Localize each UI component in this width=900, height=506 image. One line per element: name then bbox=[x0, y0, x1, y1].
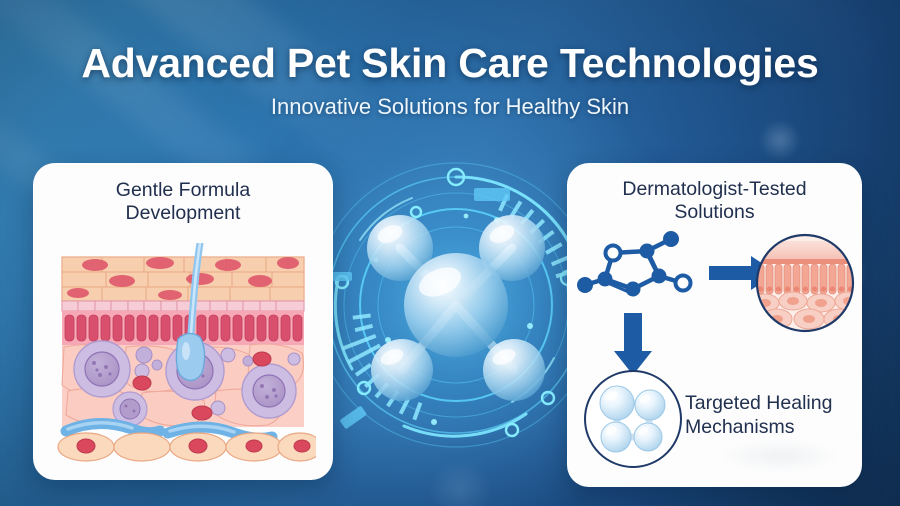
card-smudge bbox=[720, 439, 840, 473]
background-bokeh bbox=[760, 120, 800, 160]
molecule-cluster-icon bbox=[581, 367, 685, 471]
targeted-healing-label: Targeted Healing Mechanisms bbox=[685, 391, 861, 439]
card-title-line-2: Development bbox=[33, 202, 333, 225]
card-title: Dermatologist-Tested Solutions bbox=[567, 163, 862, 224]
skin-cross-section-illustration bbox=[50, 243, 316, 463]
card-title-line-1: Dermatologist-Tested bbox=[567, 178, 862, 201]
card-title-line-2: Solutions bbox=[567, 201, 862, 224]
card-title: Gentle Formula Development bbox=[33, 163, 333, 225]
molecule-structure-diagram bbox=[575, 231, 705, 311]
card-title-line-1: Gentle Formula bbox=[33, 179, 333, 202]
targeted-healing-label-line-2: Mechanisms bbox=[685, 415, 861, 439]
targeted-healing-label-line-1: Targeted Healing bbox=[685, 391, 861, 415]
skin-tissue-circle-image bbox=[753, 231, 857, 335]
page-subtitle: Innovative Solutions for Healthy Skin bbox=[0, 94, 900, 120]
page-title: Advanced Pet Skin Care Technologies bbox=[0, 40, 900, 87]
molecule-hud-graphic bbox=[316, 130, 596, 475]
card-dermatologist-tested[interactable]: Dermatologist-Tested Solutions bbox=[567, 163, 862, 487]
card-gentle-formula[interactable]: Gentle Formula Development bbox=[33, 163, 333, 480]
infographic-canvas: Advanced Pet Skin Care Technologies Inno… bbox=[0, 0, 900, 506]
